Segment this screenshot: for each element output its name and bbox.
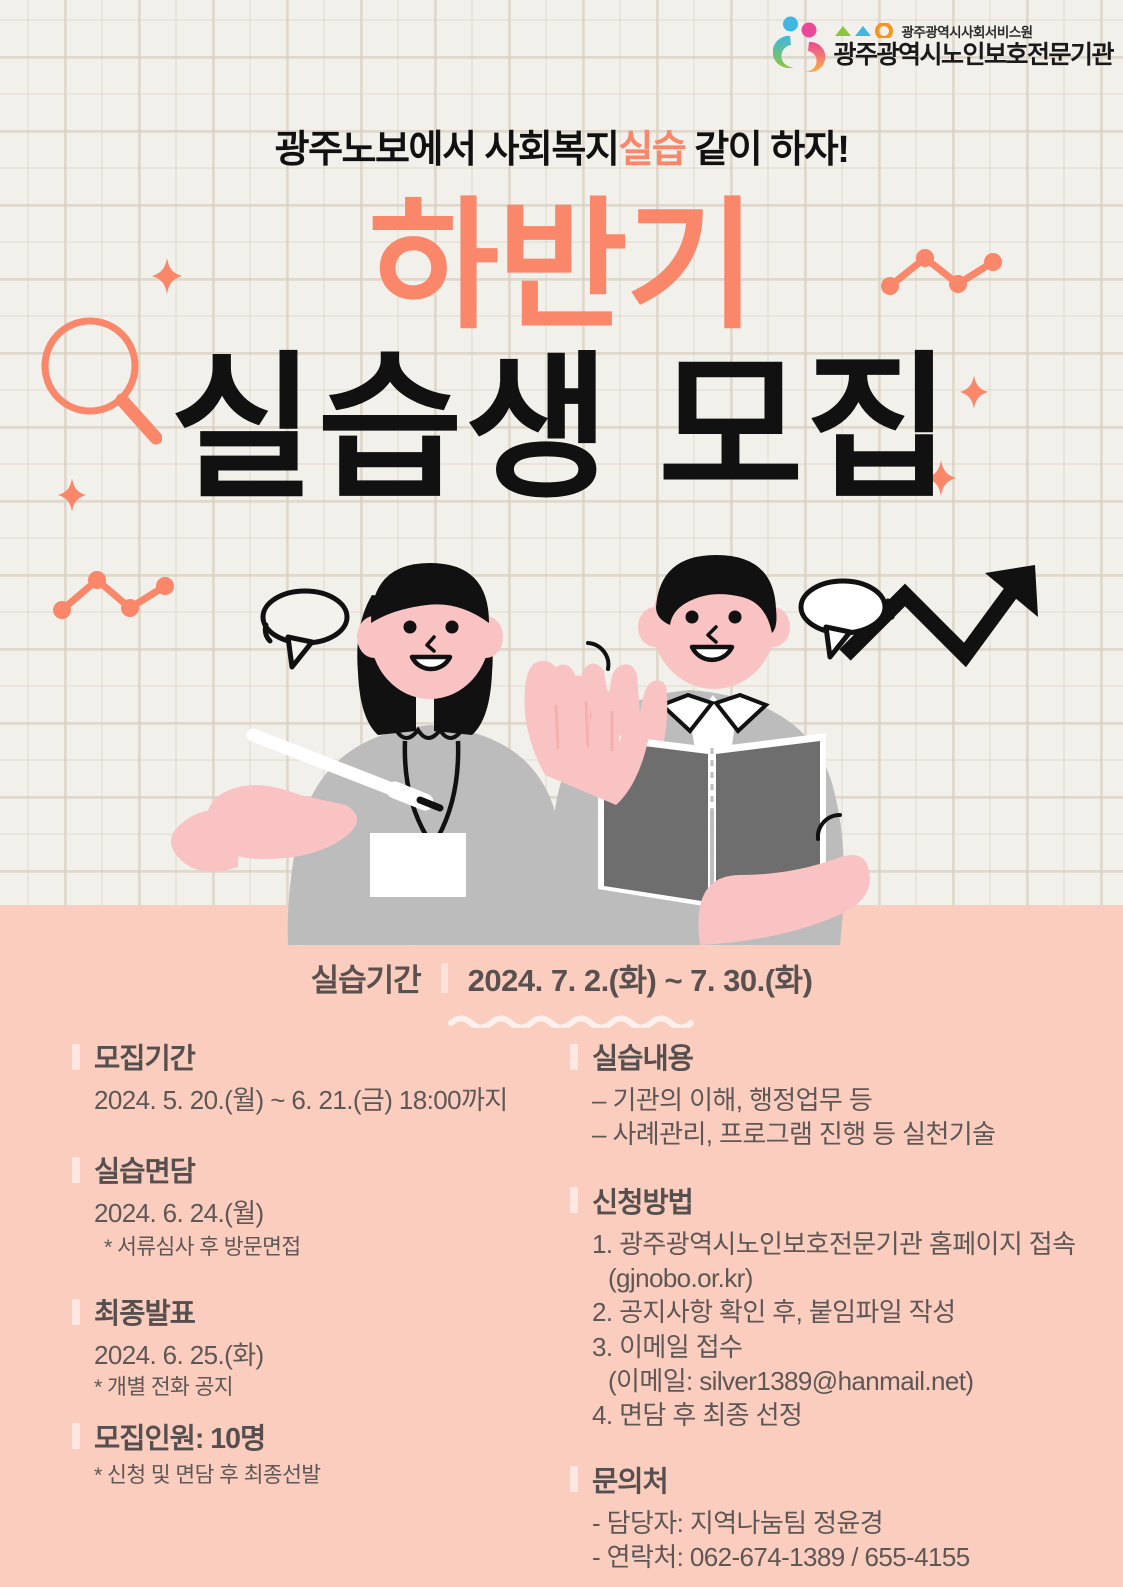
section-line-email: (이메일: silver1389@hanmail.net) (570, 1364, 1115, 1398)
period-value: 2024. 7. 2.(화) ~ 7. 30.(화) (468, 955, 813, 1000)
tagline: 광주노보에서 사회복지실습 같이 하자! (0, 118, 1123, 173)
title-main: 하반기 (0, 196, 1123, 338)
block-contact: 문의처 - 담당자: 지역나눔팀 정윤경 - 연락처: 062-674-1389… (570, 1459, 1115, 1575)
tagline-highlight: 실습 (618, 129, 685, 171)
section-line: – 사례관리, 프로그램 진행 등 실천기술 (570, 1117, 1115, 1151)
organization-logo: 광주광역시사회서비스원 광주광역시노인보호전문기관 (773, 16, 1113, 72)
block-recruitment-period: 모집기간 2024. 5. 20.(월) ~ 6. 21.(금) 18:00까지 (72, 1036, 552, 1117)
section-heading: 신청방법 (570, 1180, 1115, 1221)
section-heading: 최종발표 (72, 1291, 552, 1332)
speech-bubble-icon (263, 591, 347, 667)
bullet-marker (570, 1044, 578, 1070)
section-heading-text: 실습면담 (94, 1149, 195, 1190)
section-line: 2024. 5. 20.(월) ~ 6. 21.(금) 18:00까지 (72, 1083, 552, 1117)
right-column: 실습내용 – 기관의 이해, 행정업무 등 – 사례관리, 프로그램 진행 등 … (570, 1036, 1115, 1574)
section-line: 2. 공지사항 확인 후, 붙임파일 작성 (570, 1295, 1115, 1329)
section-line: 1. 광주광역시노인보호전문기관 홈페이지 접속 (570, 1227, 1115, 1261)
bullet-marker (72, 1299, 80, 1325)
section-heading: 실습면담 (72, 1149, 552, 1190)
section-line-manager: - 담당자: 지역나눔팀 정윤경 (570, 1506, 1115, 1540)
section-heading: 모집인원: 10명 (72, 1416, 552, 1457)
bullet-marker (570, 1466, 578, 1492)
section-line: – 기관의 이해, 행정업무 등 (570, 1083, 1115, 1117)
tagline-part-2: 같이 하자! (685, 129, 848, 171)
poster-root: 광주광역시사회서비스원 광주광역시노인보호전문기관 광주노보에서 사회복지실습 … (0, 0, 1123, 1587)
illustration (0, 545, 1123, 945)
block-interview: 실습면담 2024. 6. 24.(월) * 서류심사 후 방문면접 (72, 1149, 552, 1261)
id-badge (370, 833, 466, 897)
section-note: * 서류심사 후 방문면접 (72, 1233, 552, 1261)
section-line-website: (gjnobo.or.kr) (570, 1261, 1115, 1295)
section-heading-text: 신청방법 (592, 1180, 693, 1221)
block-headcount: 모집인원: 10명 * 신청 및 면담 후 최종선발 (72, 1416, 552, 1489)
bullet-marker (72, 1044, 80, 1070)
bullet-marker (72, 1423, 80, 1449)
section-heading-text: 최종발표 (94, 1291, 195, 1332)
period-label: 실습기간 (311, 955, 421, 1000)
section-heading-text: 문의처 (592, 1459, 668, 1500)
block-final-announcement: 최종발표 2024. 6. 25.(화) * 개별 전화 공지 (72, 1291, 552, 1402)
wavy-underline (448, 1012, 694, 1028)
section-note: * 개별 전화 공지 (72, 1373, 552, 1401)
title-sub: 실습생 모집 (0, 350, 1123, 508)
block-how-to-apply: 신청방법 1. 광주광역시노인보호전문기관 홈페이지 접속 (gjnobo.or… (570, 1180, 1115, 1433)
logo-mark-icon (773, 16, 825, 72)
section-heading-text: 모집기간 (94, 1036, 195, 1077)
bullet-marker (570, 1187, 578, 1213)
period-divider (441, 963, 448, 993)
details-columns: 모집기간 2024. 5. 20.(월) ~ 6. 21.(금) 18:00까지… (0, 1036, 1123, 1587)
left-column: 모집기간 2024. 5. 20.(월) ~ 6. 21.(금) 18:00까지… (72, 1036, 552, 1489)
bullet-marker (72, 1157, 80, 1183)
section-heading: 문의처 (570, 1459, 1115, 1500)
section-heading-text: 모집인원: 10명 (94, 1416, 265, 1457)
section-line: 4. 면담 후 최종 선정 (570, 1398, 1115, 1432)
section-heading: 실습내용 (570, 1036, 1115, 1077)
tagline-part-1: 광주노보에서 사회복지 (275, 129, 619, 171)
section-heading-text: 실습내용 (592, 1036, 693, 1077)
block-practicum-content: 실습내용 – 기관의 이해, 행정업무 등 – 사례관리, 프로그램 진행 등 … (570, 1036, 1115, 1152)
logo-title: 광주광역시노인보호전문기관 (833, 43, 1113, 68)
logo-subtitle: 광주광역시사회서비스원 (901, 21, 1032, 41)
period-banner: 실습기간 2024. 7. 2.(화) ~ 7. 30.(화) (0, 955, 1123, 1000)
section-line: 2024. 6. 24.(월) (72, 1196, 552, 1230)
chevrons-icon (833, 23, 895, 38)
section-heading: 모집기간 (72, 1036, 552, 1077)
section-line: 3. 이메일 접수 (570, 1330, 1115, 1364)
section-note: * 신청 및 면담 후 최종선발 (72, 1461, 552, 1489)
section-line-phone: - 연락처: 062-674-1389 / 655-4155 (570, 1540, 1115, 1574)
section-line: 2024. 6. 25.(화) (72, 1338, 552, 1372)
